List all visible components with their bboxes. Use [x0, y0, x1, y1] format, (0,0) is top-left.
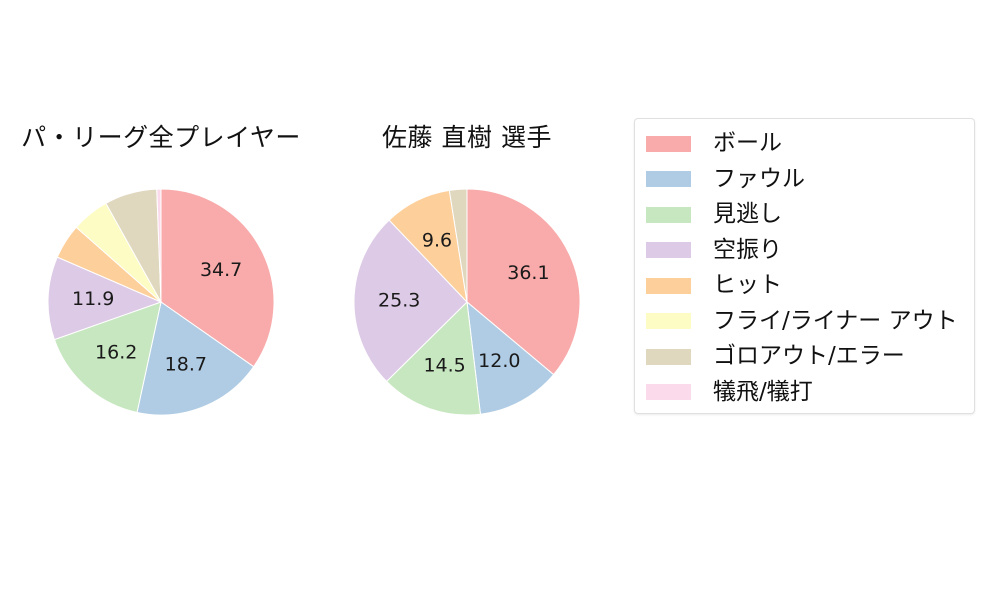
pie-svg-league: 34.718.716.211.9	[48, 189, 274, 415]
legend-list: ボールファウル見逃し空振りヒットフライ/ライナー アウトゴロアウト/エラー犠飛/…	[635, 126, 974, 410]
legend-item-label: フライ/ライナー アウト	[713, 310, 958, 333]
legend-item-6[interactable]: フライ/ライナー アウト	[635, 304, 974, 340]
pie-slice-value-label: 12.0	[478, 350, 520, 372]
pie-title-player: 佐藤 直樹 選手	[322, 118, 612, 154]
legend-swatch-swing-miss	[646, 242, 691, 258]
legend-swatch-hit	[646, 278, 691, 294]
pie-slice-value-label: 18.7	[165, 354, 207, 376]
pie-slice-value-label: 11.9	[72, 288, 114, 310]
legend-box: ボールファウル見逃し空振りヒットフライ/ライナー アウトゴロアウト/エラー犠飛/…	[634, 118, 975, 414]
legend-item-label: ボール	[713, 132, 782, 155]
legend-item-label: 見逃し	[713, 203, 782, 226]
legend-swatch-fly-liner-out	[646, 313, 691, 329]
pie-panel-league: パ・リーグ全プレイヤー 34.718.716.211.9	[0, 0, 322, 600]
pie-slice-value-label: 14.5	[423, 355, 465, 377]
legend-item-4[interactable]: 空振り	[635, 233, 974, 269]
legend-swatch-ball	[646, 136, 691, 152]
legend-item-3[interactable]: 見逃し	[635, 197, 974, 233]
pie-slice-value-label: 9.6	[422, 230, 452, 252]
pie-chart-league: 34.718.716.211.9	[48, 189, 274, 415]
pie-slice-value-label: 25.3	[378, 289, 420, 311]
legend-swatch-called-strike	[646, 207, 691, 223]
chart-canvas: パ・リーグ全プレイヤー 34.718.716.211.9 佐藤 直樹 選手 36…	[0, 0, 1000, 600]
legend-item-1[interactable]: ボール	[635, 126, 974, 162]
pie-panel-player: 佐藤 直樹 選手 36.112.014.525.39.6	[322, 0, 612, 600]
pie-slice-value-label: 36.1	[507, 262, 549, 284]
legend-swatch-foul	[646, 171, 691, 187]
legend-item-2[interactable]: ファウル	[635, 162, 974, 198]
legend-item-label: ファウル	[713, 168, 805, 191]
pie-chart-player: 36.112.014.525.39.6	[354, 189, 580, 415]
legend-item-8[interactable]: 犠飛/犠打	[635, 375, 974, 411]
legend-swatch-sac-fly-bunt	[646, 384, 691, 400]
legend-item-7[interactable]: ゴロアウト/エラー	[635, 339, 974, 375]
pie-slice-value-label: 16.2	[95, 341, 137, 363]
pie-slice-value-label: 34.7	[200, 259, 242, 281]
legend-item-label: ヒット	[713, 274, 782, 297]
legend-item-5[interactable]: ヒット	[635, 268, 974, 304]
legend-item-label: 空振り	[713, 239, 782, 262]
legend-item-label: 犠飛/犠打	[713, 381, 813, 404]
pie-title-league: パ・リーグ全プレイヤー	[0, 118, 322, 154]
legend-swatch-ground-out-error	[646, 349, 691, 365]
legend-item-label: ゴロアウト/エラー	[713, 345, 905, 368]
pie-svg-player: 36.112.014.525.39.6	[354, 189, 580, 415]
